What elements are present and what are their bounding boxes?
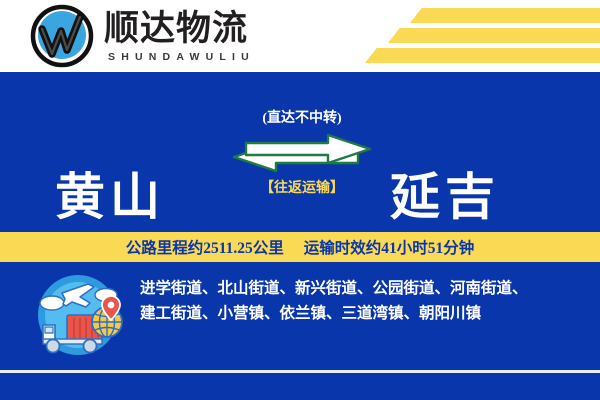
service-areas-section: 进学街道、北山街道、新兴街道、公园街道、河南街道、 建工街道、小营镇、依兰镇、三… — [0, 262, 600, 370]
bidirectional-arrow-icon — [232, 133, 372, 173]
service-areas-text: 进学街道、北山街道、新兴街道、公园街道、河南街道、 建工街道、小营镇、依兰镇、三… — [140, 276, 590, 326]
round-trip-note: 【往返运输】 — [232, 177, 372, 197]
origin-city: 黄山 — [55, 157, 165, 229]
distance-label: 公路里程约2511.25公里 — [126, 236, 284, 258]
service-areas-line-2: 建工街道、小营镇、依兰镇、三道湾镇、朝阳川镇 — [140, 301, 590, 326]
brand-logo: 顺达物流 SHUNDAWULIU — [30, 4, 255, 68]
route-middle-block: (直达不中转) 【往返运输】 — [232, 107, 372, 197]
route-section: 黄山 (直达不中转) 【往返运输】 延吉 — [0, 73, 600, 232]
footer-bar — [0, 373, 600, 400]
service-areas-line-1: 进学街道、北山街道、新兴街道、公园街道、河南街道、 — [140, 276, 590, 301]
decorative-stripes — [320, 0, 600, 70]
brand-name-en: SHUNDAWULIU — [104, 51, 255, 63]
logistics-truck-plane-globe-icon — [22, 270, 134, 360]
direct-shipping-note: (直达不中转) — [232, 107, 372, 127]
stripe-1 — [410, 8, 600, 23]
distance-duration-bar: 公路里程约2511.25公里 运输时效约41小时51分钟 — [0, 232, 600, 262]
brand-name-cn: 顺达物流 — [104, 11, 255, 48]
destination-city: 延吉 — [390, 157, 500, 229]
brand-text-block: 顺达物流 SHUNDAWULIU — [104, 9, 255, 63]
duration-label: 运输时效约41小时51分钟 — [304, 236, 475, 258]
header-bar: 顺达物流 SHUNDAWULIU — [0, 0, 600, 72]
logistics-route-banner: 顺达物流 SHUNDAWULIU 黄山 (直达不中转) 【往返运输】 — [0, 0, 600, 400]
stripe-3 — [365, 48, 600, 63]
circle-wave-logo-icon — [30, 4, 94, 68]
stripe-2 — [388, 28, 600, 43]
